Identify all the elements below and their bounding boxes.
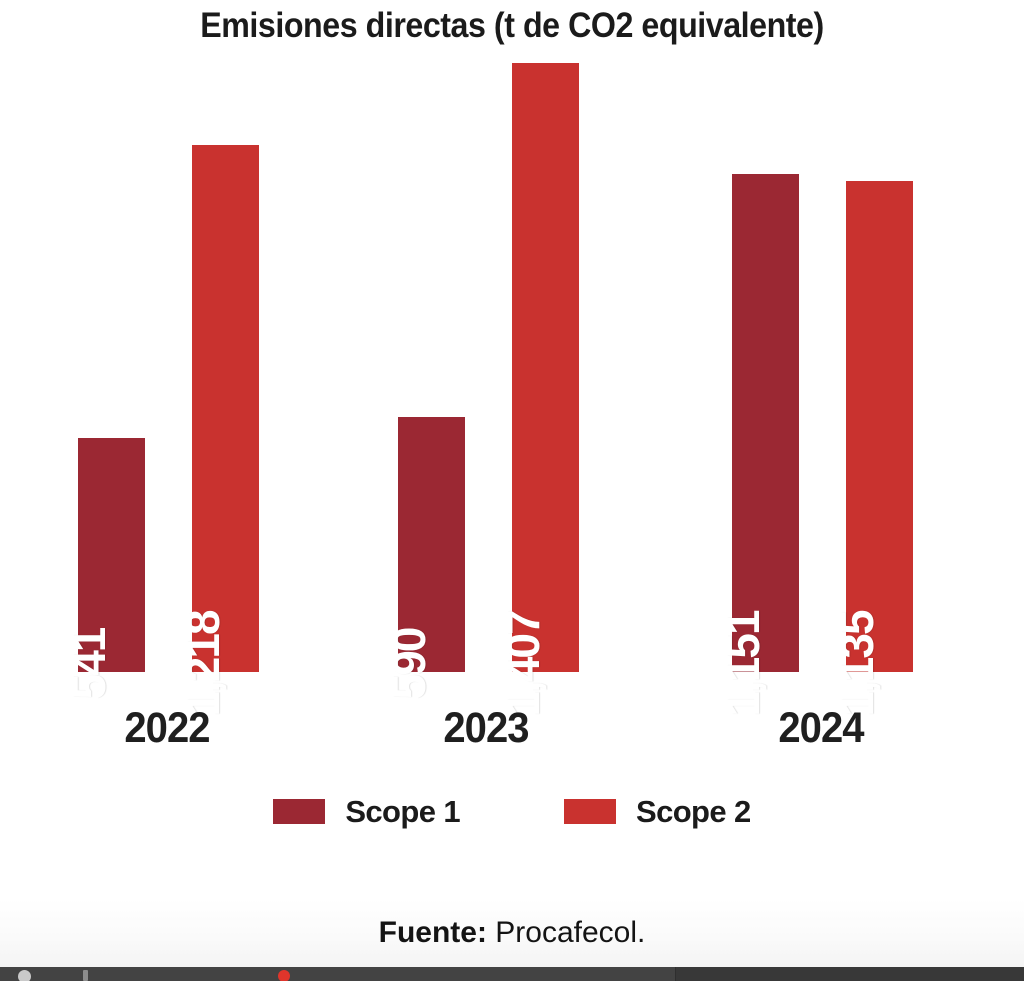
legend-item-label: Scope 1 bbox=[345, 795, 460, 828]
bar-rect bbox=[732, 174, 799, 672]
bar-value-label: 1,151 bbox=[720, 611, 766, 716]
bar-value-label: 1,407 bbox=[500, 611, 546, 716]
bar-value-label: 1,218 bbox=[180, 611, 226, 716]
bar-2023-scope-2[interactable]: 1,407 bbox=[512, 63, 579, 672]
x-axis-label-2022: 2022 bbox=[65, 703, 270, 753]
bar-rect bbox=[846, 181, 913, 672]
bar-2022-scope-2[interactable]: 1,218 bbox=[192, 145, 259, 672]
bar-rect bbox=[512, 63, 579, 672]
source-note: Fuente: Procafecol. bbox=[0, 915, 1024, 951]
legend-item-label: Scope 2 bbox=[636, 795, 751, 828]
legend-item-scope-1[interactable]: Scope 1 bbox=[273, 795, 460, 828]
legend-item-scope-2[interactable]: Scope 2 bbox=[564, 795, 751, 828]
small-window-icon[interactable] bbox=[83, 970, 88, 981]
bar-2023-scope-1[interactable]: 590 bbox=[398, 417, 465, 672]
bar-2024-scope-2[interactable]: 1,135 bbox=[846, 181, 913, 672]
circle-light-icon[interactable] bbox=[18, 970, 31, 981]
chart-legend: Scope 1 Scope 2 bbox=[0, 795, 1024, 828]
bar-2024-scope-1[interactable]: 1,151 bbox=[732, 174, 799, 672]
taskbar-tray-group[interactable] bbox=[676, 967, 1024, 981]
x-axis-label-2024: 2024 bbox=[719, 703, 924, 753]
bar-chart-plot-area: 541 1,218 590 1,407 1,151 bbox=[0, 60, 1024, 672]
legend-swatch-icon bbox=[564, 799, 616, 824]
bar-2022-scope-1[interactable]: 541 bbox=[78, 438, 145, 672]
chart-slide: Emisiones directas (t de CO2 equivalente… bbox=[0, 0, 1024, 967]
red-dot-icon[interactable] bbox=[278, 970, 290, 981]
source-label: Fuente: bbox=[379, 916, 487, 949]
bar-value-label: 590 bbox=[386, 629, 432, 700]
legend-swatch-icon bbox=[273, 799, 325, 824]
source-value: Procafecol. bbox=[487, 916, 645, 949]
taskbar-window-group[interactable] bbox=[0, 967, 676, 981]
os-taskbar[interactable] bbox=[0, 967, 1024, 981]
screenshot-root: Emisiones directas (t de CO2 equivalente… bbox=[0, 0, 1024, 981]
page-title: Emisiones directas (t de CO2 equivalente… bbox=[41, 5, 983, 47]
bar-value-label: 541 bbox=[66, 629, 112, 700]
x-axis-label-2023: 2023 bbox=[384, 703, 589, 753]
bar-rect bbox=[192, 145, 259, 672]
bar-value-label: 1,135 bbox=[834, 611, 880, 716]
